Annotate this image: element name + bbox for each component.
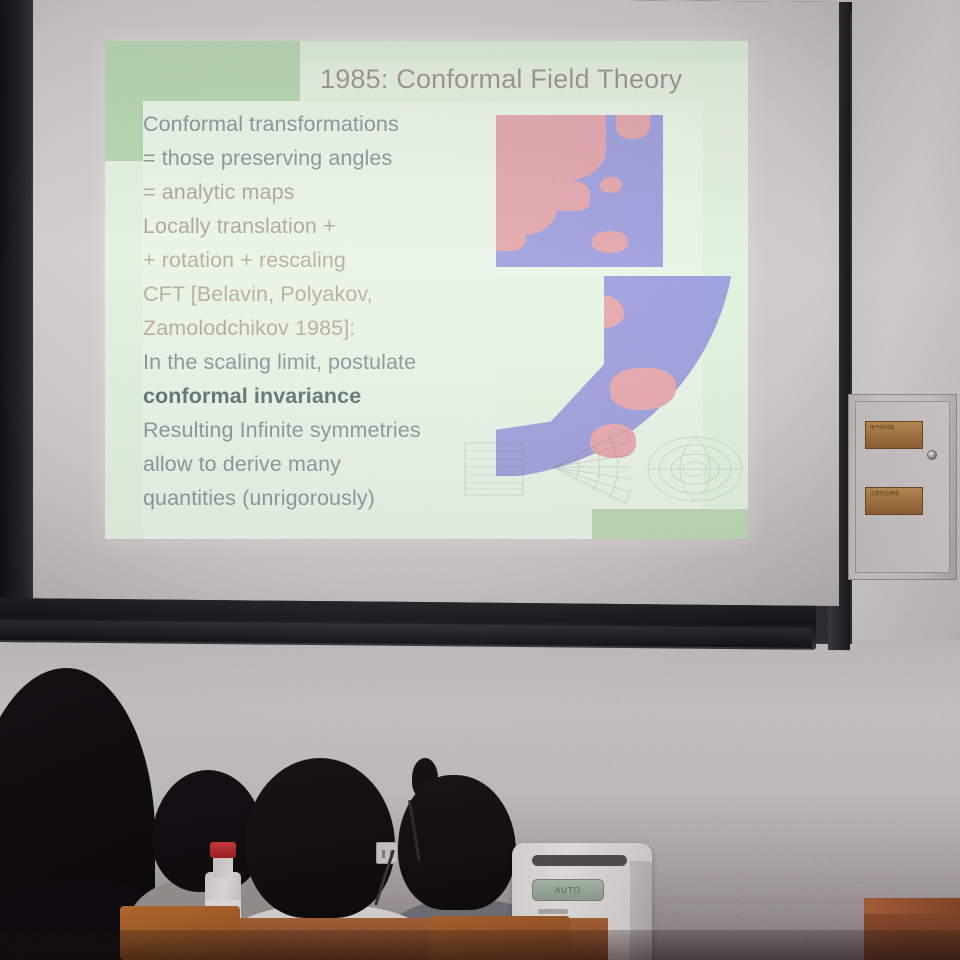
percolation-square-figure <box>496 115 663 267</box>
radial-fan-diagram <box>545 424 631 510</box>
wooden-desk-top <box>864 898 960 914</box>
utility-cabinet[interactable]: 电气控制箱 注意安全用电 <box>848 394 957 580</box>
slide-line: conformal invariance <box>143 379 503 413</box>
slide-line: Zamolodchikov 1985]: <box>143 311 503 345</box>
cabinet-latch-knob[interactable] <box>927 450 937 460</box>
cabinet-label-top-text: 电气控制箱 <box>866 422 922 434</box>
air-purifier-display: AUTO <box>532 879 604 901</box>
slide-line: quantities (unrigorously) <box>143 481 503 515</box>
slide-line: + rotation + rescaling <box>143 243 503 277</box>
slide-line: Locally translation + <box>143 209 503 243</box>
slide-line: = analytic maps <box>143 175 503 209</box>
slide-accent-block-top <box>105 41 300 105</box>
slide-line: Resulting Infinite symmetries <box>143 413 503 447</box>
cabinet-label-top: 电气控制箱 <box>865 421 923 449</box>
slide-line: In the scaling limit, postulate <box>143 345 503 379</box>
slide-title: 1985: Conformal Field Theory <box>320 59 740 99</box>
slide-accent-block-left <box>105 105 147 161</box>
slide-body-text: Conformal transformations = those preser… <box>143 107 503 515</box>
air-purifier-badge <box>538 909 568 914</box>
rectangular-grid-diagram <box>463 441 525 497</box>
wall-socket[interactable] <box>376 842 398 864</box>
air-purifier-display-text: AUTO <box>533 880 603 902</box>
slide-line: CFT [Belavin, Polyakov, <box>143 277 503 311</box>
cabinet-label-bottom-text: 注意安全用电 <box>866 488 922 500</box>
air-purifier-handle[interactable] <box>532 855 627 866</box>
floor-shadow <box>0 930 960 960</box>
oval-grid-diagram <box>645 433 745 505</box>
water-bottle-cap <box>210 842 236 858</box>
lecture-hall-scene: 1985: Conformal Field Theory Conformal t… <box>0 0 960 960</box>
slide-line: Conformal transformations <box>143 107 503 141</box>
presentation-slide: 1985: Conformal Field Theory Conformal t… <box>105 41 748 539</box>
screen-frame-left <box>0 0 36 642</box>
cabinet-label-bottom: 注意安全用电 <box>865 487 923 515</box>
slide-line: = those preserving angles <box>143 141 503 175</box>
slide-line: allow to derive many <box>143 447 503 481</box>
slide-accent-block-bottom <box>592 509 748 539</box>
